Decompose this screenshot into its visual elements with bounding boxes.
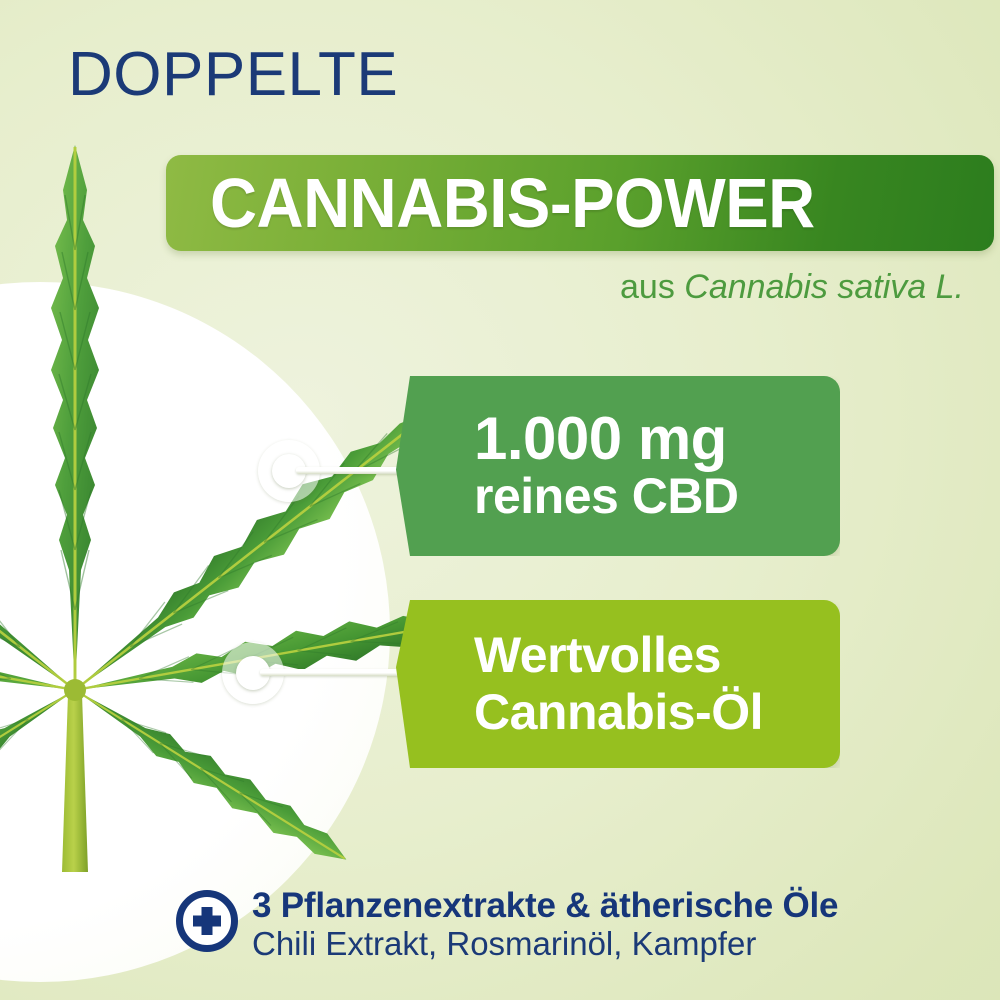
banner-title: CANNABIS-POWER (210, 163, 815, 243)
subtitle-prefix: aus (620, 268, 684, 306)
callout-cannabis-oil-line1: Wertvolles (474, 627, 840, 684)
botanical-source-subtitle: aus Cannabis sativa L. (620, 268, 964, 307)
ingredients-list: Chili Extrakt, Rosmarinöl, Kampfer (252, 925, 838, 964)
callout-cbd-amount: 1.000 mg reines CBD (396, 376, 840, 556)
callout-cbd-amount-line1: 1.000 mg (474, 408, 840, 469)
cannabis-power-banner: CANNABIS-POWER (166, 155, 994, 251)
ingredients-info-block: 3 Pflanzenextrakte & ätherische Öle Chil… (176, 886, 838, 964)
callout-cbd-amount-line2: reines CBD (474, 469, 840, 524)
ingredients-text-wrap: 3 Pflanzenextrakte & ätherische Öle Chil… (252, 886, 838, 964)
circle-plus-icon (176, 890, 238, 952)
white-circle-backdrop (0, 282, 390, 982)
callout-connector-line (260, 669, 418, 676)
page-title-kicker: DOPPELTE (68, 44, 398, 106)
callout-cannabis-oil-line2: Cannabis-Öl (474, 684, 840, 741)
subtitle-species: Cannabis sativa L. (684, 268, 964, 306)
promo-image-canvas: DOPPELTE CANNABIS-POWER aus Cannabis sat… (0, 0, 1000, 1000)
ingredients-headline: 3 Pflanzenextrakte & ätherische Öle (252, 886, 838, 925)
callout-cannabis-oil: Wertvolles Cannabis-Öl (396, 600, 840, 768)
